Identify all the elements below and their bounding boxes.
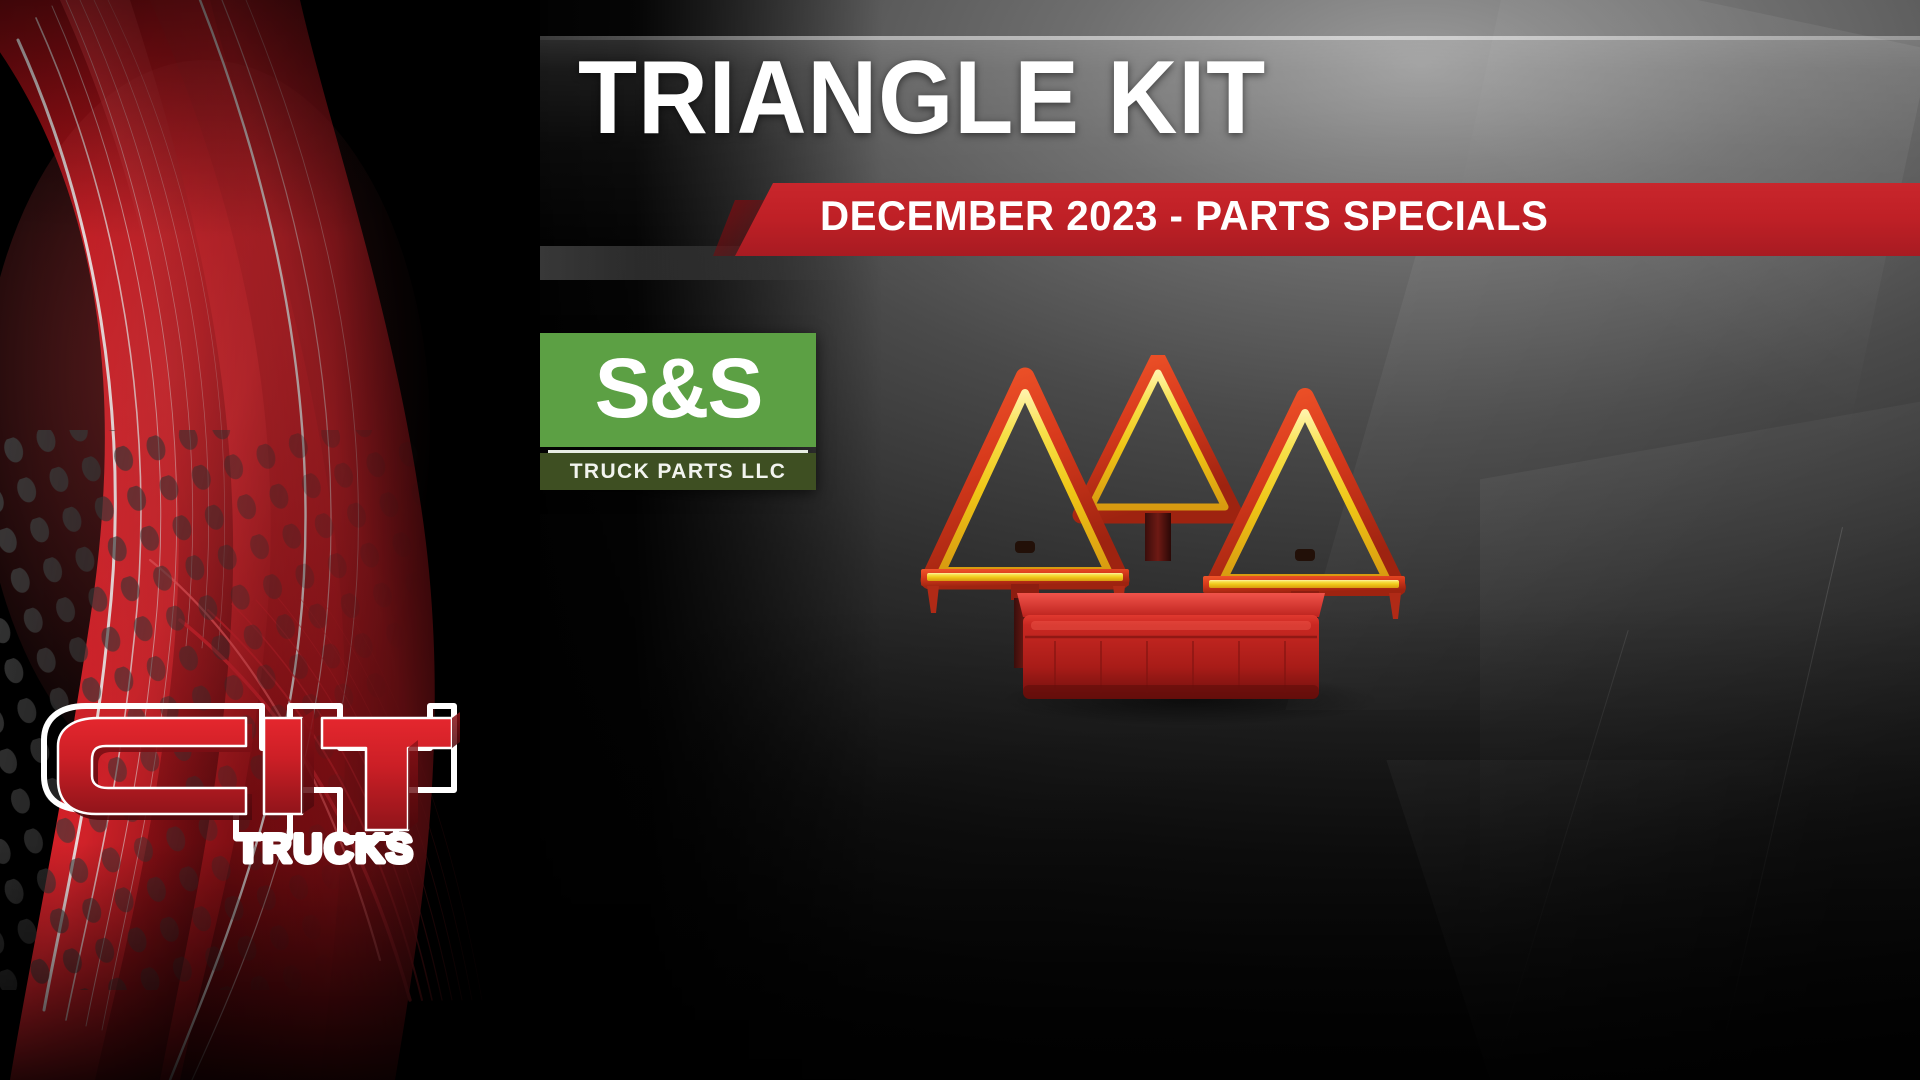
supplier-logo-tagline: TRUCK PARTS LLC — [570, 460, 787, 484]
supplier-logo: S&S TRUCK PARTS LLC — [540, 333, 816, 490]
dealer-logo: TRUCKS TRUCKS — [40, 690, 460, 870]
page-title: TRIANGLE KIT — [578, 46, 1266, 150]
subtitle-text: DECEMBER 2023 - PARTS SPECIALS — [820, 192, 1548, 240]
supplier-logo-green-panel: S&S — [540, 333, 816, 447]
product-image-triangle-kit — [905, 355, 1475, 725]
red-swoosh-artwork — [0, 0, 540, 1080]
supplier-logo-dark-panel: TRUCK PARTS LLC — [540, 453, 816, 490]
dealer-logo-tagline: TRUCKS — [236, 827, 415, 870]
supplier-logo-mark: S&S — [595, 346, 762, 430]
promotional-banner: TRIANGLE KIT DECEMBER 2023 - PARTS SPECI… — [0, 0, 1920, 1080]
